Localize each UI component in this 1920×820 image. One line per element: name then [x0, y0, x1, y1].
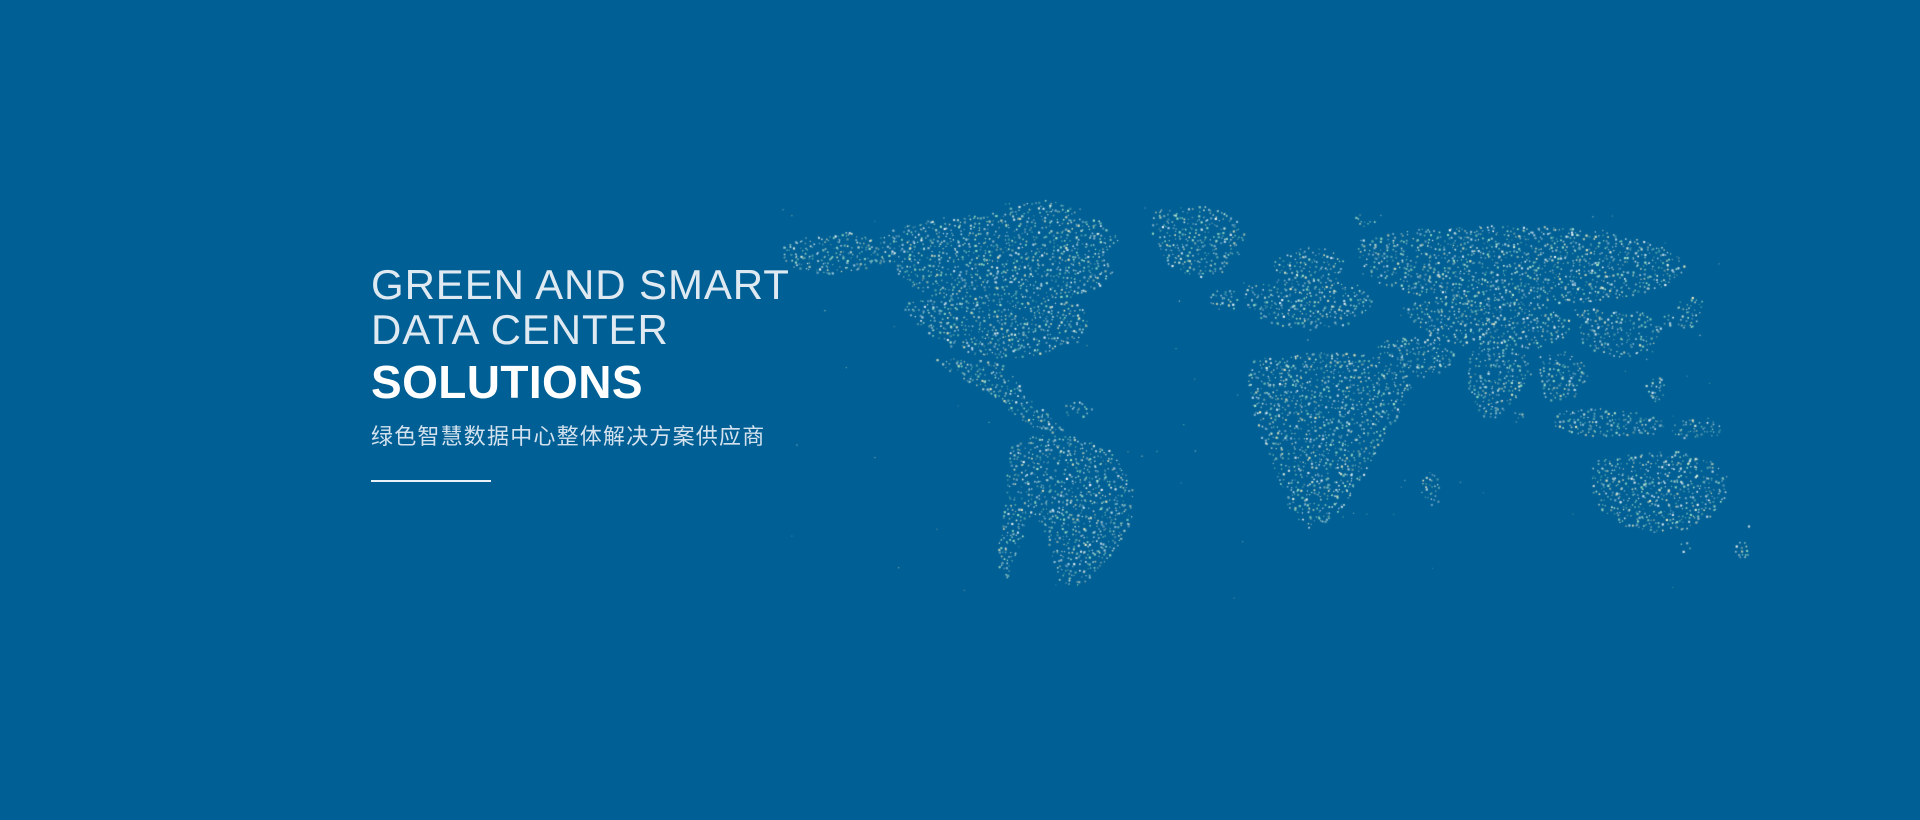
headline-line-3-solutions: SOLUTIONS	[371, 356, 1091, 408]
headline-divider-rule	[371, 480, 491, 482]
headline-line-1: GREEN AND SMART	[371, 262, 1091, 307]
headline-block: GREEN AND SMART DATA CENTER SOLUTIONS 绿色…	[371, 262, 1091, 482]
hero-banner: GREEN AND SMART DATA CENTER SOLUTIONS 绿色…	[0, 0, 1920, 820]
headline-subtitle-chinese: 绿色智慧数据中心整体解决方案供应商	[371, 422, 1091, 452]
headline-line-2: DATA CENTER	[371, 307, 1091, 352]
